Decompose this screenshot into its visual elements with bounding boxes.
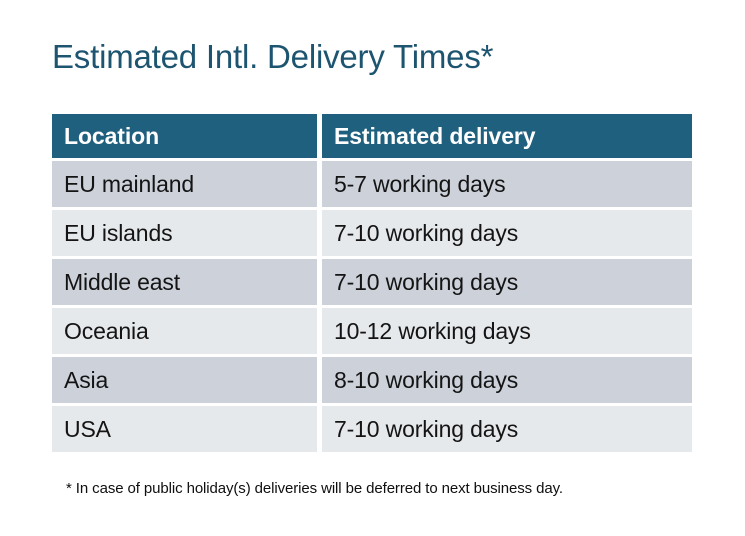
cell-estimated-delivery: 7-10 working days: [322, 259, 692, 305]
table-row: Asia 8-10 working days: [52, 357, 692, 403]
table-row: USA 7-10 working days: [52, 406, 692, 452]
cell-estimated-delivery: 7-10 working days: [322, 210, 692, 256]
column-header-estimated-delivery: Estimated delivery: [322, 114, 692, 158]
table-row: EU mainland 5-7 working days: [52, 161, 692, 207]
delivery-times-table: Location Estimated delivery EU mainland …: [47, 111, 697, 455]
cell-location: EU mainland: [52, 161, 317, 207]
table-row: EU islands 7-10 working days: [52, 210, 692, 256]
cell-estimated-delivery: 10-12 working days: [322, 308, 692, 354]
table-body: EU mainland 5-7 working days EU islands …: [52, 161, 692, 452]
page-title: Estimated Intl. Delivery Times*: [52, 37, 493, 77]
footnote: * In case of public holiday(s) deliverie…: [66, 479, 563, 499]
cell-estimated-delivery: 8-10 working days: [322, 357, 692, 403]
cell-location: Middle east: [52, 259, 317, 305]
column-header-location: Location: [52, 114, 317, 158]
table-header: Location Estimated delivery: [52, 114, 692, 158]
cell-estimated-delivery: 5-7 working days: [322, 161, 692, 207]
cell-location: Asia: [52, 357, 317, 403]
cell-estimated-delivery: 7-10 working days: [322, 406, 692, 452]
cell-location: Oceania: [52, 308, 317, 354]
table-row: Oceania 10-12 working days: [52, 308, 692, 354]
cell-location: EU islands: [52, 210, 317, 256]
table-header-row: Location Estimated delivery: [52, 114, 692, 158]
cell-location: USA: [52, 406, 317, 452]
delivery-times-card: Estimated Intl. Delivery Times* Location…: [0, 0, 745, 536]
table-row: Middle east 7-10 working days: [52, 259, 692, 305]
